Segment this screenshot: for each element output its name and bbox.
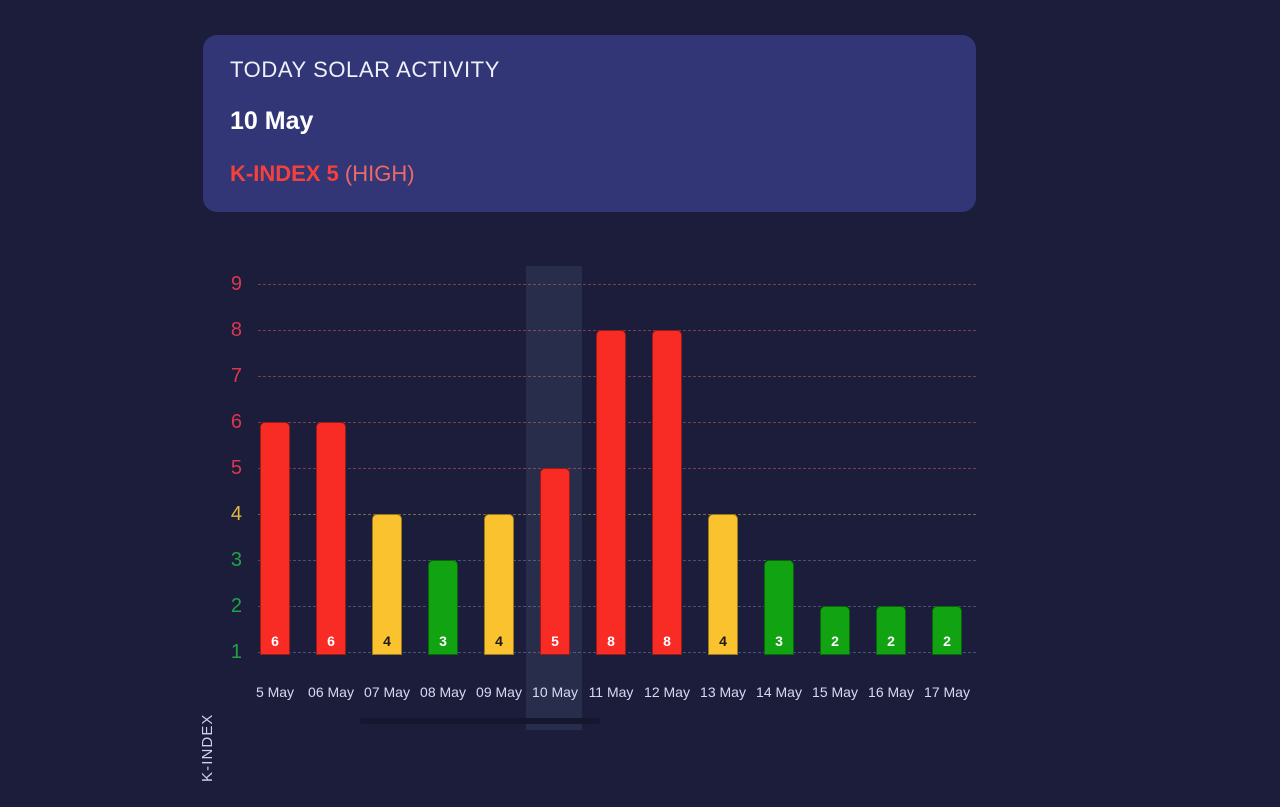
bar-value: 4 — [719, 634, 727, 654]
bar-value: 6 — [271, 634, 279, 654]
bar-value: 4 — [383, 634, 391, 654]
bar-07-may[interactable]: 4 — [372, 514, 402, 655]
y-tick-3: 3 — [196, 550, 242, 570]
bar-value: 2 — [943, 634, 951, 654]
y-tick-1: 1 — [196, 642, 242, 662]
bar-value: 8 — [607, 634, 615, 654]
bar-08-may[interactable]: 3 — [428, 560, 458, 655]
y-axis-title: K-INDEX — [199, 676, 219, 782]
y-axis-labels: 9 8 7 6 5 4 3 2 1 — [196, 266, 242, 655]
bar-05-may[interactable]: 6 — [260, 422, 290, 655]
bar-value: 8 — [663, 634, 671, 654]
bar-09-may[interactable]: 4 — [484, 514, 514, 655]
x-axis-labels: 5 May 06 May 07 May 08 May 09 May 10 May… — [230, 684, 990, 706]
bar-value: 3 — [775, 634, 783, 654]
y-tick-5: 5 — [196, 458, 242, 478]
bar-value: 5 — [551, 634, 559, 654]
bar-11-may[interactable]: 8 — [596, 330, 626, 655]
chart-scrollbar-thumb[interactable] — [360, 718, 600, 724]
bar-value: 6 — [327, 634, 335, 654]
bar-06-may[interactable]: 6 — [316, 422, 346, 655]
bar-13-may[interactable]: 4 — [708, 514, 738, 655]
bar-10-may[interactable]: 5 — [540, 468, 570, 655]
chart-bars: 6 6 4 3 4 5 8 8 4 3 2 2 2 — [258, 266, 976, 655]
y-tick-8: 8 — [196, 320, 242, 340]
bar-12-may[interactable]: 8 — [652, 330, 682, 655]
bar-value: 4 — [495, 634, 503, 654]
bar-14-may[interactable]: 3 — [764, 560, 794, 655]
kindex-bar-chart: 9 8 7 6 5 4 3 2 1 6 6 4 3 4 5 8 8 4 3 2 … — [0, 0, 1280, 807]
bar-value: 2 — [887, 634, 895, 654]
bar-17-may[interactable]: 2 — [932, 606, 962, 655]
y-tick-9: 9 — [196, 274, 242, 294]
y-tick-6: 6 — [196, 412, 242, 432]
y-tick-7: 7 — [196, 366, 242, 386]
bar-value: 2 — [831, 634, 839, 654]
x-tick-17-may: 17 May — [907, 684, 987, 700]
bar-16-may[interactable]: 2 — [876, 606, 906, 655]
y-tick-4: 4 — [196, 504, 242, 524]
solar-activity-page: TODAY SOLAR ACTIVITY 10 May K-INDEX 5 (H… — [0, 0, 1280, 807]
y-tick-2: 2 — [196, 596, 242, 616]
bar-15-may[interactable]: 2 — [820, 606, 850, 655]
bar-value: 3 — [439, 634, 447, 654]
